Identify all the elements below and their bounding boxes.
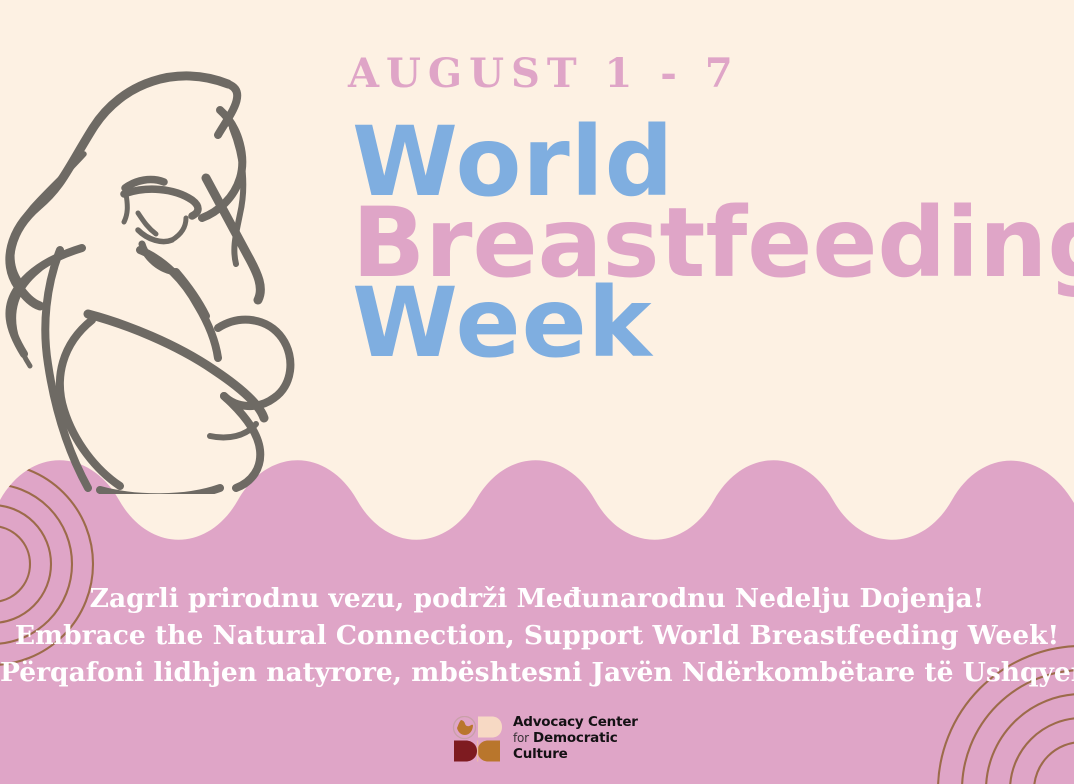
slogan-english: Embrace the Natural Connection, Support … bbox=[0, 617, 1074, 654]
slogan-block: Zagrli prirodnu vezu, podrži Međunarodnu… bbox=[0, 580, 1074, 691]
date-line: AUGUST 1 - 7 bbox=[348, 54, 740, 94]
logo-text: Advocacy Center for Democratic Culture bbox=[513, 715, 657, 763]
logo-mark-icon bbox=[452, 716, 504, 762]
logo-line-advocacy-center: Advocacy Center bbox=[513, 715, 657, 731]
slogan-serbian: Zagrli prirodnu vezu, podrži Međunarodnu… bbox=[0, 580, 1074, 617]
logo-line-for-democratic-culture: for Democratic Culture bbox=[513, 731, 657, 763]
page-title: World Breastfeeding Week bbox=[352, 122, 1052, 364]
slogan-albanian: Përqafoni lidhjen natyrore, mbështesni J… bbox=[0, 654, 1074, 691]
mother-and-baby-illustration bbox=[0, 58, 326, 494]
organization-logo: Advocacy Center for Democratic Culture bbox=[452, 714, 657, 764]
poster-canvas: AUGUST 1 - 7 World Breastfeeding Week Za… bbox=[0, 0, 1074, 784]
logo-democratic-culture: Democratic Culture bbox=[513, 730, 618, 762]
logo-for-word: for bbox=[513, 731, 529, 745]
